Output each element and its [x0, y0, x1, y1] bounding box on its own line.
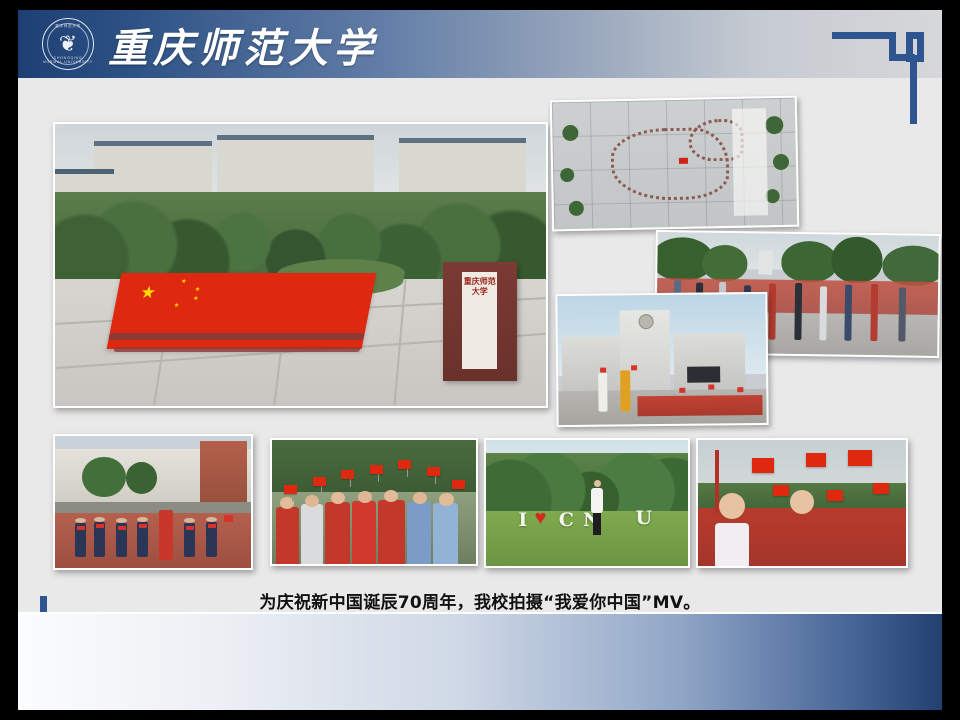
person [769, 284, 777, 339]
small-flag [773, 485, 789, 496]
sculpture-letter-u: U [635, 509, 652, 528]
small-flag [370, 465, 383, 474]
small-flag [600, 368, 606, 373]
person [898, 287, 906, 341]
stone-fence [55, 502, 251, 513]
small-flag [737, 387, 743, 392]
student [352, 501, 376, 564]
small-flag [873, 483, 889, 494]
woman-making-heart-gesture [591, 480, 603, 538]
photo-scene: I ♥ C N U [486, 440, 688, 566]
red-scarf [77, 526, 85, 530]
seal-bottom-text: CHONGQING NORMAL UNIVERSITY [43, 56, 93, 64]
photo-schoolchildren-on-track[interactable] [53, 434, 253, 570]
led-screen [687, 367, 720, 383]
red-scarf [118, 526, 126, 530]
small-flag [708, 385, 714, 390]
small-flag [427, 467, 440, 476]
photo-scene [698, 440, 906, 566]
student [433, 503, 457, 564]
tree [831, 237, 882, 283]
small-flag [284, 485, 297, 494]
small-flag [313, 477, 326, 486]
sculpture-letter-c: C [559, 511, 574, 530]
photo-i-love-cnu-lawn[interactable]: I ♥ C N U [484, 438, 690, 568]
photo-students-waving-flags[interactable] [270, 438, 478, 566]
sculpture-heart-icon: ♥ [534, 508, 546, 528]
small-flag [679, 388, 685, 393]
student [407, 502, 431, 564]
person-yellow-shirt [621, 370, 631, 411]
student [378, 500, 405, 564]
tree [781, 241, 838, 283]
building [399, 138, 527, 194]
photo-closeup-flag-wavers[interactable] [696, 438, 908, 568]
teacher [159, 510, 173, 560]
flag-star-small: ★ [192, 296, 199, 302]
small-flag [631, 365, 637, 370]
large-flag [752, 458, 774, 473]
head [305, 495, 319, 507]
distant-building [758, 250, 772, 274]
person [845, 285, 853, 340]
university-name-title: 重庆师范大学 [108, 19, 378, 71]
building-wing [562, 337, 625, 394]
flag-star-small: ★ [173, 303, 180, 309]
tree [773, 154, 789, 170]
photo-scene [55, 436, 251, 568]
head [439, 493, 453, 505]
tree [568, 201, 583, 216]
student-crowd-row [113, 347, 359, 352]
large-flag [806, 453, 826, 467]
person-white-shirt [598, 373, 607, 412]
slide-caption: 为庆祝新中国诞辰70周年，我校拍摄“我爱你中国”MV。 [18, 588, 942, 613]
person-head [719, 493, 745, 519]
small-flag [452, 480, 465, 489]
tree [765, 116, 783, 134]
building-roof [732, 108, 768, 215]
white-jacket [591, 488, 603, 512]
building [217, 135, 374, 194]
photo-students-in-front-of-clock-tower[interactable] [555, 292, 768, 427]
person-head [790, 490, 814, 514]
head [358, 491, 372, 503]
person [870, 284, 878, 340]
small-flag [224, 515, 233, 522]
person-white-top [715, 523, 749, 566]
student [325, 502, 349, 564]
sculpture-letter-i: I [518, 511, 527, 530]
slide-header-band: 重庆师范大学 ❦ CHONGQING NORMAL UNIVERSITY 重庆师… [18, 10, 942, 78]
tree [562, 125, 578, 141]
monument-inscription: 重庆师范大学 [462, 272, 497, 298]
sky [698, 440, 906, 485]
person [794, 283, 802, 339]
flag-star-small: ★ [180, 280, 187, 286]
tree [82, 457, 125, 497]
top-right-corner-decoration [832, 32, 924, 124]
flag-star-large: ★ [139, 284, 158, 301]
photo-scene [557, 294, 766, 425]
photo-scene [272, 440, 476, 564]
red-brick-building [200, 441, 247, 504]
presentation-slide: 重庆师范大学 ❦ CHONGQING NORMAL UNIVERSITY 重庆师… [18, 10, 942, 710]
campus-stone-monument: 重庆师范大学 [443, 262, 517, 380]
legs [593, 513, 601, 535]
red-scarf [139, 524, 147, 528]
red-scarf [186, 526, 194, 530]
tree [702, 245, 747, 282]
student [301, 504, 323, 564]
tree [126, 462, 157, 494]
small-flag [398, 460, 411, 469]
person [819, 286, 827, 340]
red-scarf [208, 524, 216, 528]
student [276, 507, 298, 564]
small-flag [827, 490, 843, 501]
photo-scene: ★ ★ ★ ★ ★ 重庆师范大学 [55, 124, 546, 406]
student-crowd-row [108, 333, 365, 340]
large-flag [848, 450, 872, 466]
photo-scene [552, 98, 797, 230]
head [594, 480, 601, 487]
photo-aerial-china-map-formation[interactable] [550, 96, 799, 232]
monument-plate: 重庆师范大学 [462, 272, 497, 369]
large-banner-pole [715, 450, 719, 513]
university-seal-icon: 重庆师范大学 ❦ CHONGQING NORMAL UNIVERSITY [42, 18, 94, 70]
photo-campus-plaza-giant-flag[interactable]: ★ ★ ★ ★ ★ 重庆师范大学 [53, 122, 548, 408]
slide-footer-band [18, 612, 942, 710]
center-flag-marker [679, 158, 688, 164]
small-flag [341, 470, 354, 479]
flag-star-small: ★ [194, 287, 201, 293]
student-row [637, 395, 762, 417]
tree-line [486, 453, 688, 513]
red-scarf [96, 524, 104, 528]
